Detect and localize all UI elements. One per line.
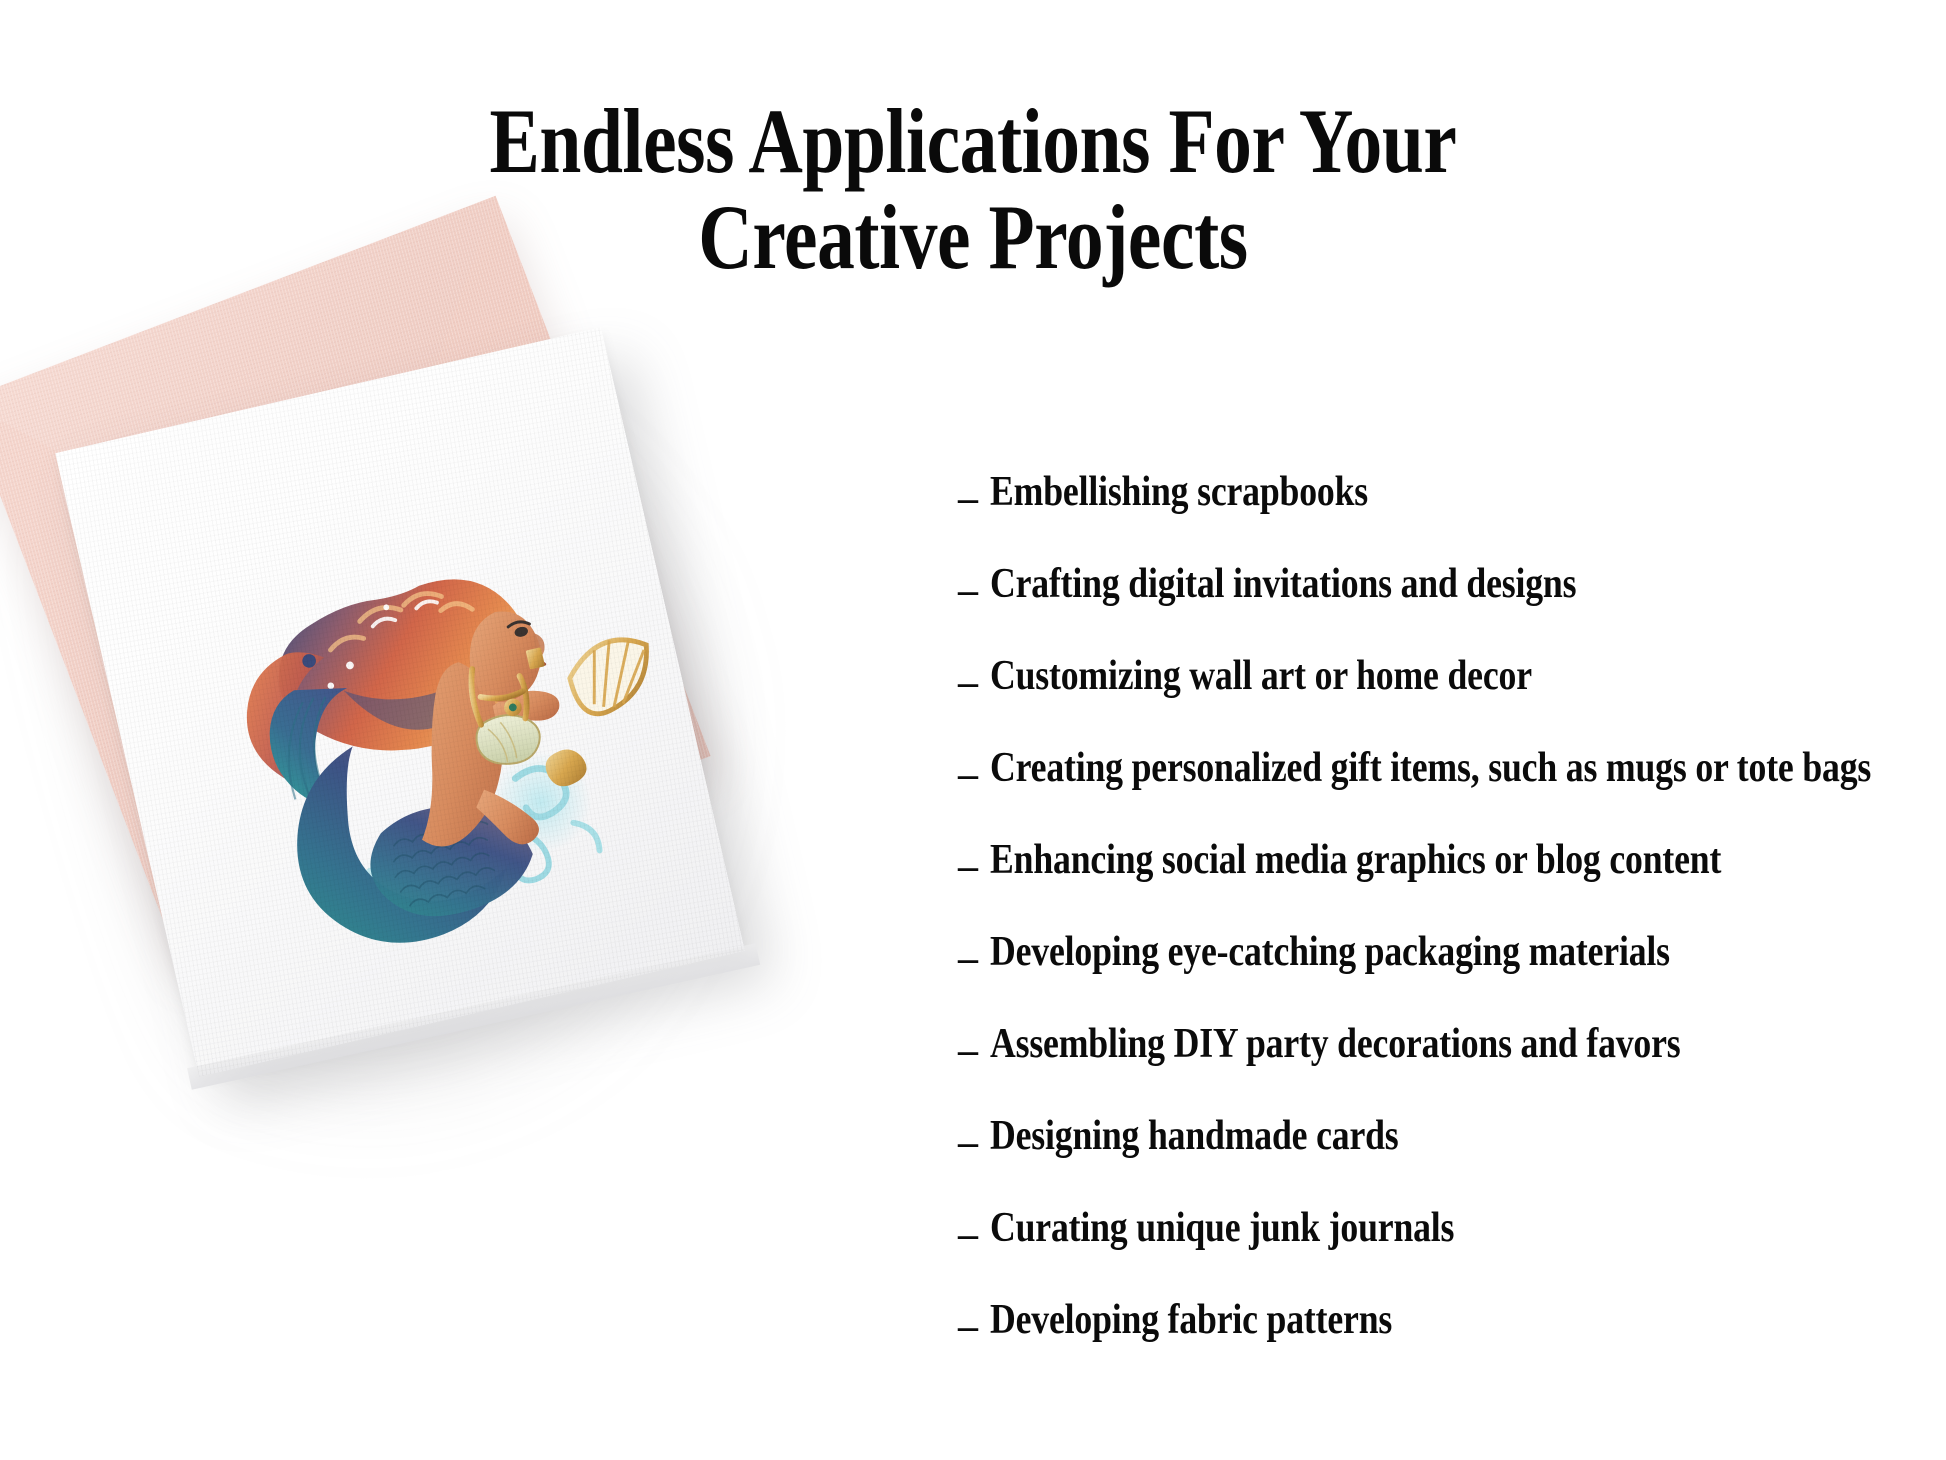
- list-item: – Embellishing scrapbooks: [958, 470, 1938, 518]
- bullet-dash-icon: –: [958, 570, 978, 610]
- list-item: – Customizing wall art or home decor: [958, 654, 1938, 702]
- poster-canvas: Endless Applications For Your Creative P…: [0, 0, 1946, 1460]
- bullet-dash-icon: –: [958, 662, 978, 702]
- list-item-label: Developing fabric patterns: [990, 1298, 1392, 1342]
- list-item-label: Designing handmade cards: [990, 1114, 1399, 1158]
- mermaid-artwork: [125, 494, 714, 1031]
- list-item-label: Customizing wall art or home decor: [990, 654, 1532, 698]
- list-item: – Creating personalized gift items, such…: [958, 746, 1938, 794]
- applications-list: – Embellishing scrapbooks – Crafting dig…: [958, 470, 1938, 1346]
- page-title: Endless Applications For Your Creative P…: [0, 96, 1946, 282]
- bullet-dash-icon: –: [958, 478, 978, 518]
- list-item: – Curating unique junk journals: [958, 1206, 1938, 1254]
- list-item-label: Assembling DIY party decorations and fav…: [990, 1022, 1681, 1066]
- list-item-label: Curating unique junk journals: [990, 1206, 1454, 1250]
- bullet-dash-icon: –: [958, 1306, 978, 1346]
- bullet-dash-icon: –: [958, 1122, 978, 1162]
- bullet-dash-icon: –: [958, 1030, 978, 1070]
- bullet-dash-icon: –: [958, 754, 978, 794]
- product-mockup-photo: [0, 250, 880, 1350]
- list-item-label: Embellishing scrapbooks: [990, 470, 1368, 514]
- page-title-line-1: Endless Applications For Your: [175, 96, 1771, 186]
- list-item-label: Crafting digital invitations and designs: [990, 562, 1576, 606]
- page-title-line-2: Creative Projects: [175, 192, 1771, 282]
- bullet-dash-icon: –: [958, 1214, 978, 1254]
- bullet-dash-icon: –: [958, 938, 978, 978]
- list-item: – Enhancing social media graphics or blo…: [958, 838, 1938, 886]
- bullet-dash-icon: –: [958, 846, 978, 886]
- list-item: – Crafting digital invitations and desig…: [958, 562, 1938, 610]
- gold-fan-shell: [561, 629, 663, 721]
- list-item: – Assembling DIY party decorations and f…: [958, 1022, 1938, 1070]
- list-item: – Designing handmade cards: [958, 1114, 1938, 1162]
- list-item-label: Creating personalized gift items, such a…: [990, 746, 1871, 790]
- list-item-label: Enhancing social media graphics or blog …: [990, 838, 1721, 882]
- list-item-label: Developing eye-catching packaging materi…: [990, 930, 1670, 974]
- list-item: – Developing fabric patterns: [958, 1298, 1938, 1346]
- list-item: – Developing eye-catching packaging mate…: [958, 930, 1938, 978]
